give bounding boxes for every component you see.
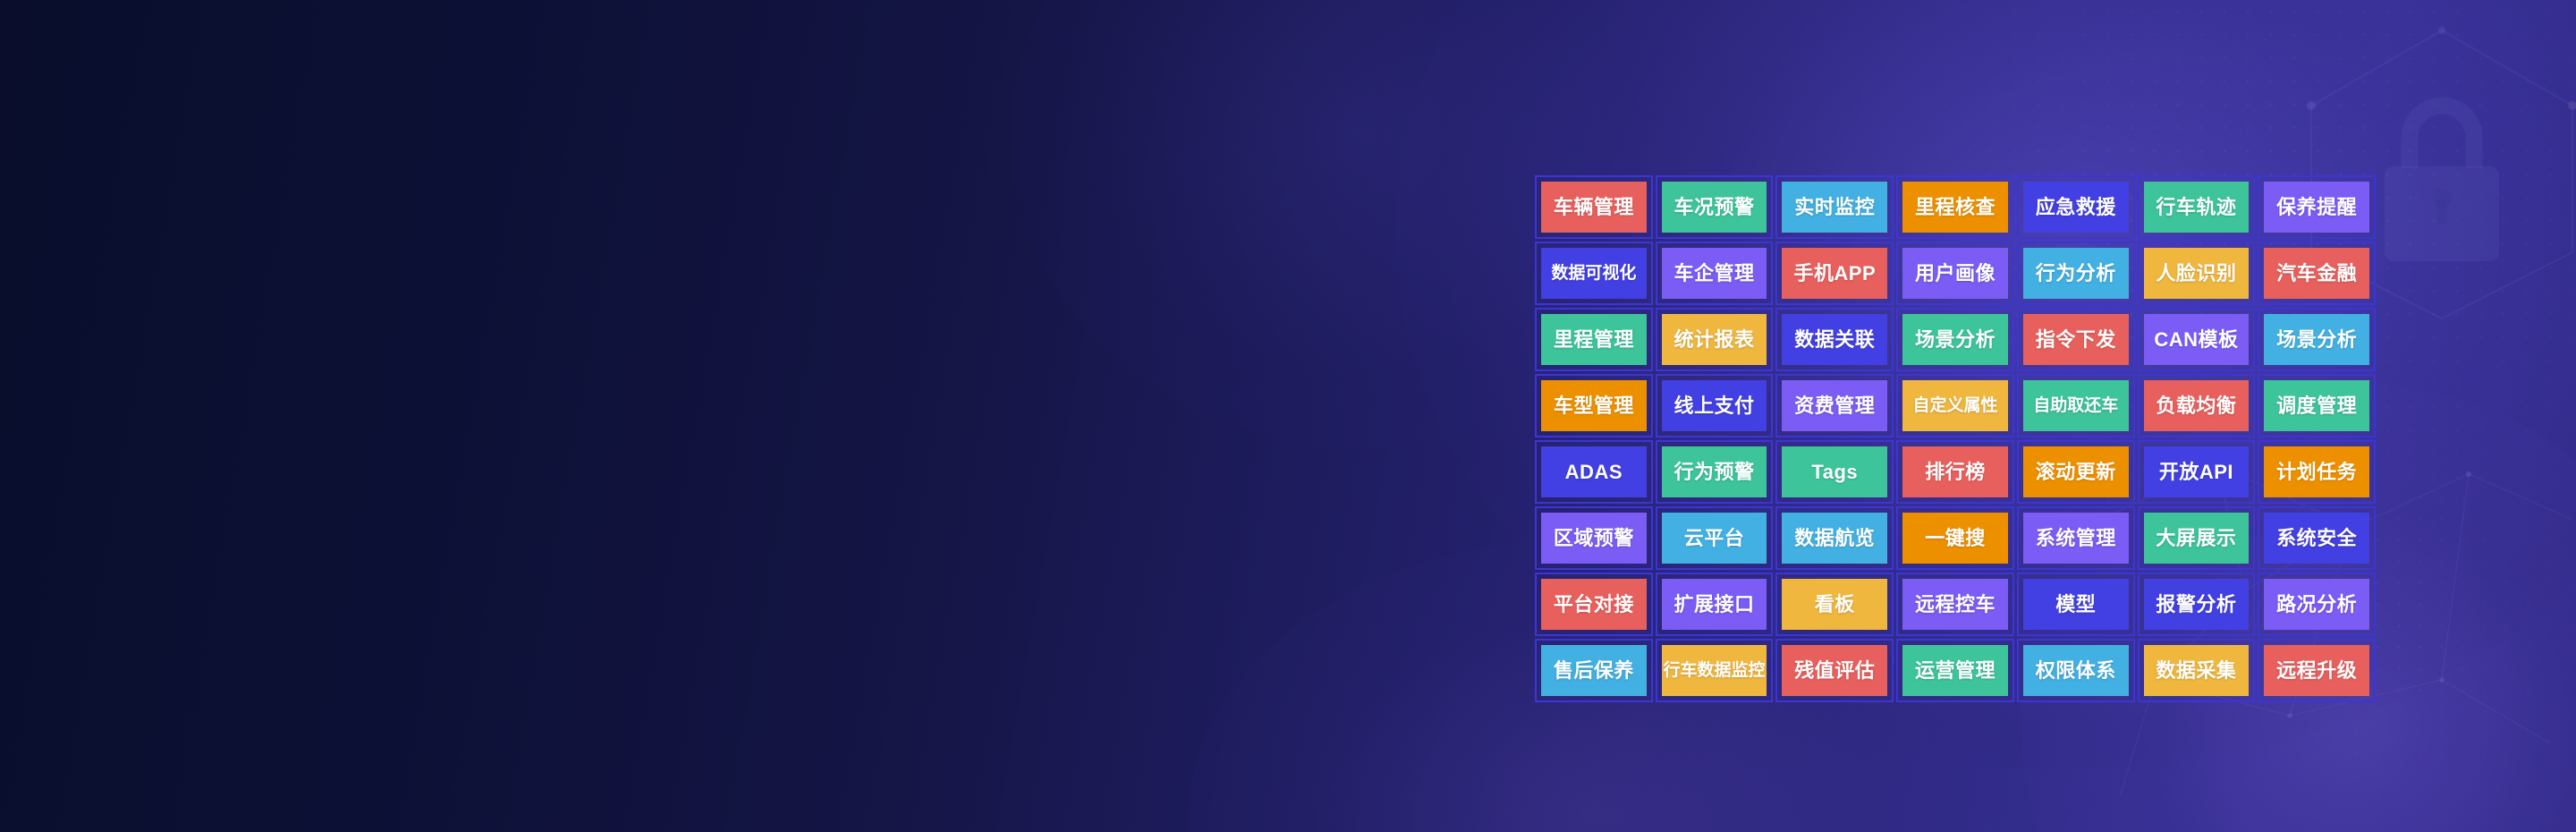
feature-tile-label: 手机APP — [1782, 248, 1887, 299]
feature-tile[interactable]: 线上支付 — [1656, 374, 1774, 437]
feature-tile[interactable]: 资费管理 — [1775, 374, 1894, 437]
feature-tile-label: 线上支付 — [1662, 380, 1767, 431]
feature-tile[interactable]: 行车轨迹 — [2138, 175, 2256, 239]
feature-tile[interactable]: 保养提醒 — [2258, 175, 2376, 239]
feature-tile[interactable]: 区域预警 — [1535, 506, 1653, 570]
feature-tile-label: 权限体系 — [2023, 645, 2129, 696]
feature-tile-label: 残值评估 — [1782, 645, 1887, 696]
feature-tile-label: 路况分析 — [2264, 579, 2369, 630]
feature-tile[interactable]: 系统管理 — [2017, 506, 2135, 570]
feature-tile-label: ADAS — [1541, 446, 1647, 497]
feature-tile[interactable]: 里程核查 — [1896, 175, 2014, 239]
feature-tile-label: 行车数据监控 — [1662, 645, 1767, 696]
feature-tile[interactable]: 车况预警 — [1656, 175, 1774, 239]
feature-tile-label: 计划任务 — [2264, 446, 2369, 497]
feature-tile[interactable]: 汽车金融 — [2258, 242, 2376, 305]
feature-tile[interactable]: 运营管理 — [1896, 639, 2014, 702]
feature-tile[interactable]: 行为预警 — [1656, 440, 1774, 504]
feature-tile-label: 行为预警 — [1662, 446, 1767, 497]
feature-tile-label: 行车轨迹 — [2144, 182, 2250, 233]
feature-tile[interactable]: CAN模板 — [2138, 308, 2256, 371]
feature-tile-label: 数据航览 — [1782, 513, 1887, 564]
feature-tile-label: 统计报表 — [1662, 314, 1767, 365]
feature-tile-label: 看板 — [1782, 579, 1887, 630]
feature-tile[interactable]: 云平台 — [1656, 506, 1774, 570]
feature-tile-label: 汽车金融 — [2264, 248, 2369, 299]
feature-tile[interactable]: 车企管理 — [1656, 242, 1774, 305]
feature-tile-label: 远程升级 — [2264, 645, 2369, 696]
feature-tile-label: 行为分析 — [2023, 248, 2129, 299]
feature-tile-label: 里程管理 — [1541, 314, 1647, 365]
feature-tile[interactable]: 模型 — [2017, 573, 2135, 636]
feature-tile-label: 滚动更新 — [2023, 446, 2129, 497]
feature-tile[interactable]: 指令下发 — [2017, 308, 2135, 371]
feature-tile-label: 车企管理 — [1662, 248, 1767, 299]
feature-tile-label: 云平台 — [1662, 513, 1767, 564]
feature-tile[interactable]: 数据采集 — [2138, 639, 2256, 702]
feature-tile-label: 场景分析 — [1902, 314, 2008, 365]
feature-tile-label: 开放API — [2144, 446, 2250, 497]
feature-tile[interactable]: 远程升级 — [2258, 639, 2376, 702]
feature-tile[interactable]: 权限体系 — [2017, 639, 2135, 702]
feature-tile-label: Tags — [1782, 446, 1887, 497]
feature-tile[interactable]: 数据航览 — [1775, 506, 1894, 570]
feature-tile[interactable]: 大屏展示 — [2138, 506, 2256, 570]
screen: 车辆管理车况预警实时监控里程核查应急救援行车轨迹保养提醒数据可视化车企管理手机A… — [0, 0, 2576, 832]
feature-tile[interactable]: 计划任务 — [2258, 440, 2376, 504]
feature-tile[interactable]: 行为分析 — [2017, 242, 2135, 305]
feature-tile-label: 平台对接 — [1541, 579, 1647, 630]
feature-tile-label: 资费管理 — [1782, 380, 1887, 431]
feature-tile-label: 里程核查 — [1902, 182, 2008, 233]
feature-tile-label: 实时监控 — [1782, 182, 1887, 233]
feature-tile-label: 调度管理 — [2264, 380, 2369, 431]
feature-tile[interactable]: 实时监控 — [1775, 175, 1894, 239]
feature-tile-label: 系统安全 — [2264, 513, 2369, 564]
feature-tile[interactable]: 手机APP — [1775, 242, 1894, 305]
feature-tile[interactable]: 报警分析 — [2138, 573, 2256, 636]
feature-tile[interactable]: 统计报表 — [1656, 308, 1774, 371]
feature-tile[interactable]: 远程控车 — [1896, 573, 2014, 636]
feature-tile-label: CAN模板 — [2144, 314, 2250, 365]
feature-tile-label: 数据采集 — [2144, 645, 2250, 696]
feature-tile-label: 系统管理 — [2023, 513, 2129, 564]
feature-tile-label: 排行榜 — [1902, 446, 2008, 497]
feature-tile[interactable]: 残值评估 — [1775, 639, 1894, 702]
feature-tile-grid: 车辆管理车况预警实时监控里程核查应急救援行车轨迹保养提醒数据可视化车企管理手机A… — [1535, 175, 2376, 702]
feature-tile[interactable]: 扩展接口 — [1656, 573, 1774, 636]
feature-tile[interactable]: 自定义属性 — [1896, 374, 2014, 437]
feature-tile-label: 区域预警 — [1541, 513, 1647, 564]
feature-tile-label: 车辆管理 — [1541, 182, 1647, 233]
feature-tile[interactable]: 排行榜 — [1896, 440, 2014, 504]
feature-tile-label: 运营管理 — [1902, 645, 2008, 696]
feature-tile[interactable]: 开放API — [2138, 440, 2256, 504]
feature-tile[interactable]: 用户画像 — [1896, 242, 2014, 305]
feature-tile[interactable]: 滚动更新 — [2017, 440, 2135, 504]
feature-tile[interactable]: 人脸识别 — [2138, 242, 2256, 305]
feature-tile-label: 车况预警 — [1662, 182, 1767, 233]
feature-tile-label: 指令下发 — [2023, 314, 2129, 365]
feature-tile[interactable]: 调度管理 — [2258, 374, 2376, 437]
feature-tile[interactable]: Tags — [1775, 440, 1894, 504]
feature-tile-label: 数据可视化 — [1541, 248, 1647, 299]
feature-tile-label: 车型管理 — [1541, 380, 1647, 431]
feature-tile[interactable]: 路况分析 — [2258, 573, 2376, 636]
feature-tile-label: 自定义属性 — [1902, 380, 2008, 431]
feature-tile[interactable]: 系统安全 — [2258, 506, 2376, 570]
feature-tile-label: 保养提醒 — [2264, 182, 2369, 233]
feature-tile-label: 人脸识别 — [2144, 248, 2250, 299]
feature-tile[interactable]: 车型管理 — [1535, 374, 1653, 437]
feature-tile[interactable]: 数据关联 — [1775, 308, 1894, 371]
feature-tile-label: 数据关联 — [1782, 314, 1887, 365]
feature-tile-label: 售后保养 — [1541, 645, 1647, 696]
feature-tile-label: 远程控车 — [1902, 579, 2008, 630]
feature-tile[interactable]: 一键搜 — [1896, 506, 2014, 570]
feature-tile[interactable]: 场景分析 — [1896, 308, 2014, 371]
feature-tile-label: 大屏展示 — [2144, 513, 2250, 564]
feature-tile-label: 场景分析 — [2264, 314, 2369, 365]
feature-tile[interactable]: 场景分析 — [2258, 308, 2376, 371]
feature-tile[interactable]: 数据可视化 — [1535, 242, 1653, 305]
feature-tile[interactable]: 里程管理 — [1535, 308, 1653, 371]
feature-tile-label: 扩展接口 — [1662, 579, 1767, 630]
feature-tile-label: 自助取还车 — [2023, 380, 2129, 431]
feature-tile[interactable]: ADAS — [1535, 440, 1653, 504]
feature-tile[interactable]: 看板 — [1775, 573, 1894, 636]
feature-tile[interactable]: 负载均衡 — [2138, 374, 2256, 437]
feature-tile-label: 报警分析 — [2144, 579, 2250, 630]
feature-tile[interactable]: 车辆管理 — [1535, 175, 1653, 239]
feature-tile[interactable]: 自助取还车 — [2017, 374, 2135, 437]
feature-tile-label: 应急救援 — [2023, 182, 2129, 233]
feature-tile[interactable]: 售后保养 — [1535, 639, 1653, 702]
feature-tile-label: 负载均衡 — [2144, 380, 2250, 431]
feature-tile[interactable]: 行车数据监控 — [1656, 639, 1774, 702]
feature-tile[interactable]: 平台对接 — [1535, 573, 1653, 636]
feature-tile-label: 用户画像 — [1902, 248, 2008, 299]
feature-tile-label: 一键搜 — [1902, 513, 2008, 564]
feature-tile-label: 模型 — [2023, 579, 2129, 630]
feature-tile[interactable]: 应急救援 — [2017, 175, 2135, 239]
